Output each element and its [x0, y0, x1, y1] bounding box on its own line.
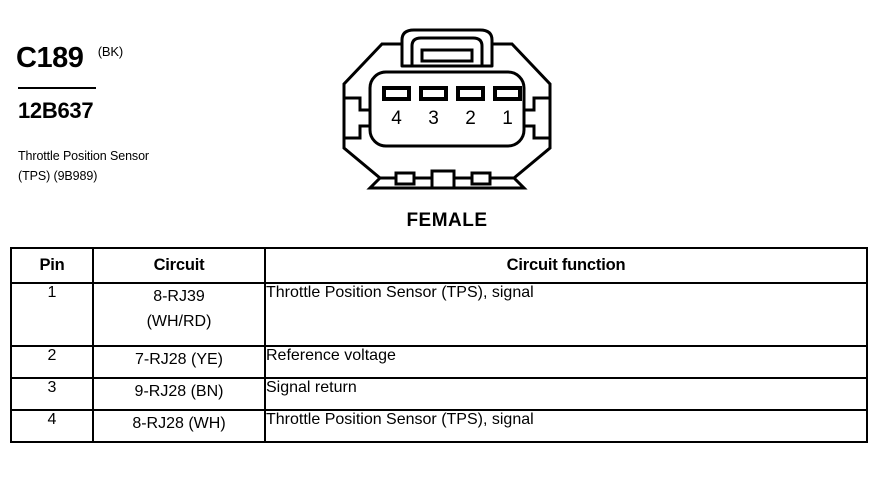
connector-color-code: (BK): [98, 44, 123, 59]
table-header-row: Pin Circuit Circuit function: [11, 248, 867, 283]
terminal-opening-pin-3: [421, 88, 446, 99]
pinout-table: Pin Circuit Circuit function 1 8-RJ39 (W…: [10, 247, 868, 443]
connector-outline-svg: 4 3 2 1: [318, 26, 576, 208]
connector-identification-block: C189 (BK) 12B637 Throttle Position Senso…: [16, 42, 246, 78]
cell-function: Reference voltage: [265, 346, 867, 378]
column-header-pin: Pin: [11, 248, 93, 283]
table-row: 2 7-RJ28 (YE) Reference voltage: [11, 346, 867, 378]
cell-circuit: 8-RJ28 (WH): [93, 410, 265, 442]
table-row: 4 8-RJ28 (WH) Throttle Position Sensor (…: [11, 410, 867, 442]
cell-pin: 4: [11, 410, 93, 442]
cell-function: Throttle Position Sensor (TPS), signal: [265, 410, 867, 442]
bottom-keying-tab-center: [432, 171, 454, 188]
pin-number-label-4: 4: [391, 108, 402, 129]
circuit-code: 8-RJ39: [153, 288, 205, 305]
terminal-opening-pin-4: [384, 88, 409, 99]
cell-function: Signal return: [265, 378, 867, 410]
cell-pin: 3: [11, 378, 93, 410]
column-header-circuit: Circuit: [93, 248, 265, 283]
cell-circuit: 9-RJ28 (BN): [93, 378, 265, 410]
pin-number-label-2: 2: [465, 108, 476, 129]
connector-code: C189: [16, 42, 83, 74]
component-description: Throttle Position Sensor (TPS) (9B989): [18, 146, 238, 186]
pinout-table-body: 1 8-RJ39 (WH/RD) Throttle Position Senso…: [11, 283, 867, 442]
bottom-keying-tab-left: [396, 173, 414, 184]
connector-face-diagram: 4 3 2 1 FEMALE: [318, 26, 576, 238]
cell-function: Throttle Position Sensor (TPS), signal: [265, 283, 867, 346]
pin-number-label-1: 1: [502, 108, 513, 129]
pinout-table-head: Pin Circuit Circuit function: [11, 248, 867, 283]
circuit-wire-color: (WH/RD): [94, 309, 264, 334]
latch-slot: [422, 50, 472, 61]
connector-gender-label: FEMALE: [318, 210, 576, 232]
cell-pin: 1: [11, 283, 93, 346]
terminal-opening-pin-1: [495, 88, 520, 99]
cell-circuit: 7-RJ28 (YE): [93, 346, 265, 378]
bottom-keying-tab-right: [472, 173, 490, 184]
cell-pin: 2: [11, 346, 93, 378]
pin-number-label-3: 3: [428, 108, 439, 129]
column-header-function: Circuit function: [265, 248, 867, 283]
cell-circuit: 8-RJ39 (WH/RD): [93, 283, 265, 346]
connector-code-row: C189 (BK): [16, 42, 246, 78]
component-description-line-2: (TPS) (9B989): [18, 166, 238, 186]
table-row: 1 8-RJ39 (WH/RD) Throttle Position Senso…: [11, 283, 867, 346]
connector-part-number: 12B637: [18, 98, 93, 124]
component-description-line-1: Throttle Position Sensor: [18, 146, 238, 166]
code-underline-rule: [18, 87, 96, 89]
terminal-opening-pin-2: [458, 88, 483, 99]
table-row: 3 9-RJ28 (BN) Signal return: [11, 378, 867, 410]
